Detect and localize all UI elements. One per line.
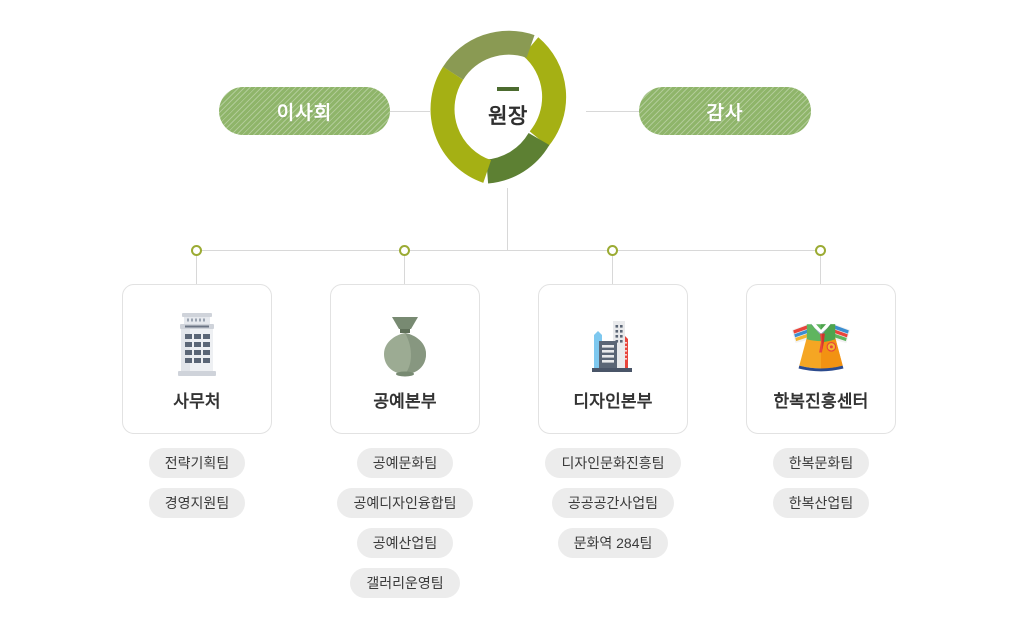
node-auditor[interactable]: 감사	[639, 87, 811, 135]
connector-center-to-bus	[507, 188, 508, 250]
cityscape-icon	[580, 307, 646, 381]
president-dash-accent	[497, 87, 519, 91]
connector-board-to-center	[390, 111, 430, 112]
dept-card-hanbok-label: 한복진흥센터	[773, 387, 868, 412]
dept-card-design-label: 디자인본부	[573, 387, 652, 412]
team-list-0: 전략기획팀 경영지원팀	[122, 448, 272, 518]
dept-column-3: 한복진흥센터 한복문화팀 한복산업팀	[746, 284, 896, 518]
team-pill[interactable]: 경영지원팀	[149, 488, 245, 518]
team-pill[interactable]: 공예디자인융합팀	[337, 488, 472, 518]
team-list-1: 공예문화팀 공예디자인융합팀 공예산업팀 갤러리운영팀	[330, 448, 480, 598]
node-president[interactable]: 원장	[428, 28, 588, 188]
team-pill[interactable]: 문화역 284팀	[558, 528, 669, 558]
team-pill[interactable]: 공예문화팀	[357, 448, 453, 478]
bus-node-3	[815, 245, 826, 256]
dept-card-office-label: 사무처	[173, 387, 221, 412]
team-list-3: 한복문화팀 한복산업팀	[746, 448, 896, 518]
team-pill[interactable]: 전략기획팀	[149, 448, 245, 478]
team-pill[interactable]: 공공공간사업팀	[552, 488, 674, 518]
org-chart: 이사회 감사 원장	[0, 0, 1014, 640]
dept-column-1: 공예본부 공예문화팀 공예디자인융합팀 공예산업팀 갤러리운영팀	[330, 284, 480, 598]
team-pill[interactable]: 공예산업팀	[357, 528, 453, 558]
team-pill[interactable]: 갤러리운영팀	[350, 568, 459, 598]
team-pill[interactable]: 디자인문화진흥팀	[545, 448, 680, 478]
dept-card-craft[interactable]: 공예본부	[330, 284, 480, 434]
bus-node-2	[607, 245, 618, 256]
office-building-icon	[164, 307, 230, 381]
dept-card-craft-label: 공예본부	[373, 387, 436, 412]
node-board-of-directors-label: 이사회	[277, 98, 332, 125]
node-president-label: 원장	[488, 100, 528, 130]
team-list-2: 디자인문화진흥팀 공공공간사업팀 문화역 284팀	[538, 448, 688, 558]
dept-card-office[interactable]: 사무처	[122, 284, 272, 434]
node-board-of-directors[interactable]: 이사회	[219, 87, 390, 135]
bus-node-1	[399, 245, 410, 256]
dept-card-hanbok[interactable]: 한복진흥센터	[746, 284, 896, 434]
team-pill[interactable]: 한복문화팀	[773, 448, 869, 478]
node-president-content: 원장	[428, 28, 588, 188]
connector-center-to-audit	[586, 111, 640, 112]
bus-node-0	[191, 245, 202, 256]
celadon-vase-icon	[372, 307, 438, 381]
team-pill[interactable]: 한복산업팀	[773, 488, 869, 518]
node-auditor-label: 감사	[707, 98, 744, 125]
dept-column-2: 디자인본부 디자인문화진흥팀 공공공간사업팀 문화역 284팀	[538, 284, 688, 558]
dept-card-design[interactable]: 디자인본부	[538, 284, 688, 434]
dept-column-0: 사무처 전략기획팀 경영지원팀	[122, 284, 272, 518]
bus-line	[196, 250, 821, 251]
hanbok-icon	[788, 307, 854, 381]
